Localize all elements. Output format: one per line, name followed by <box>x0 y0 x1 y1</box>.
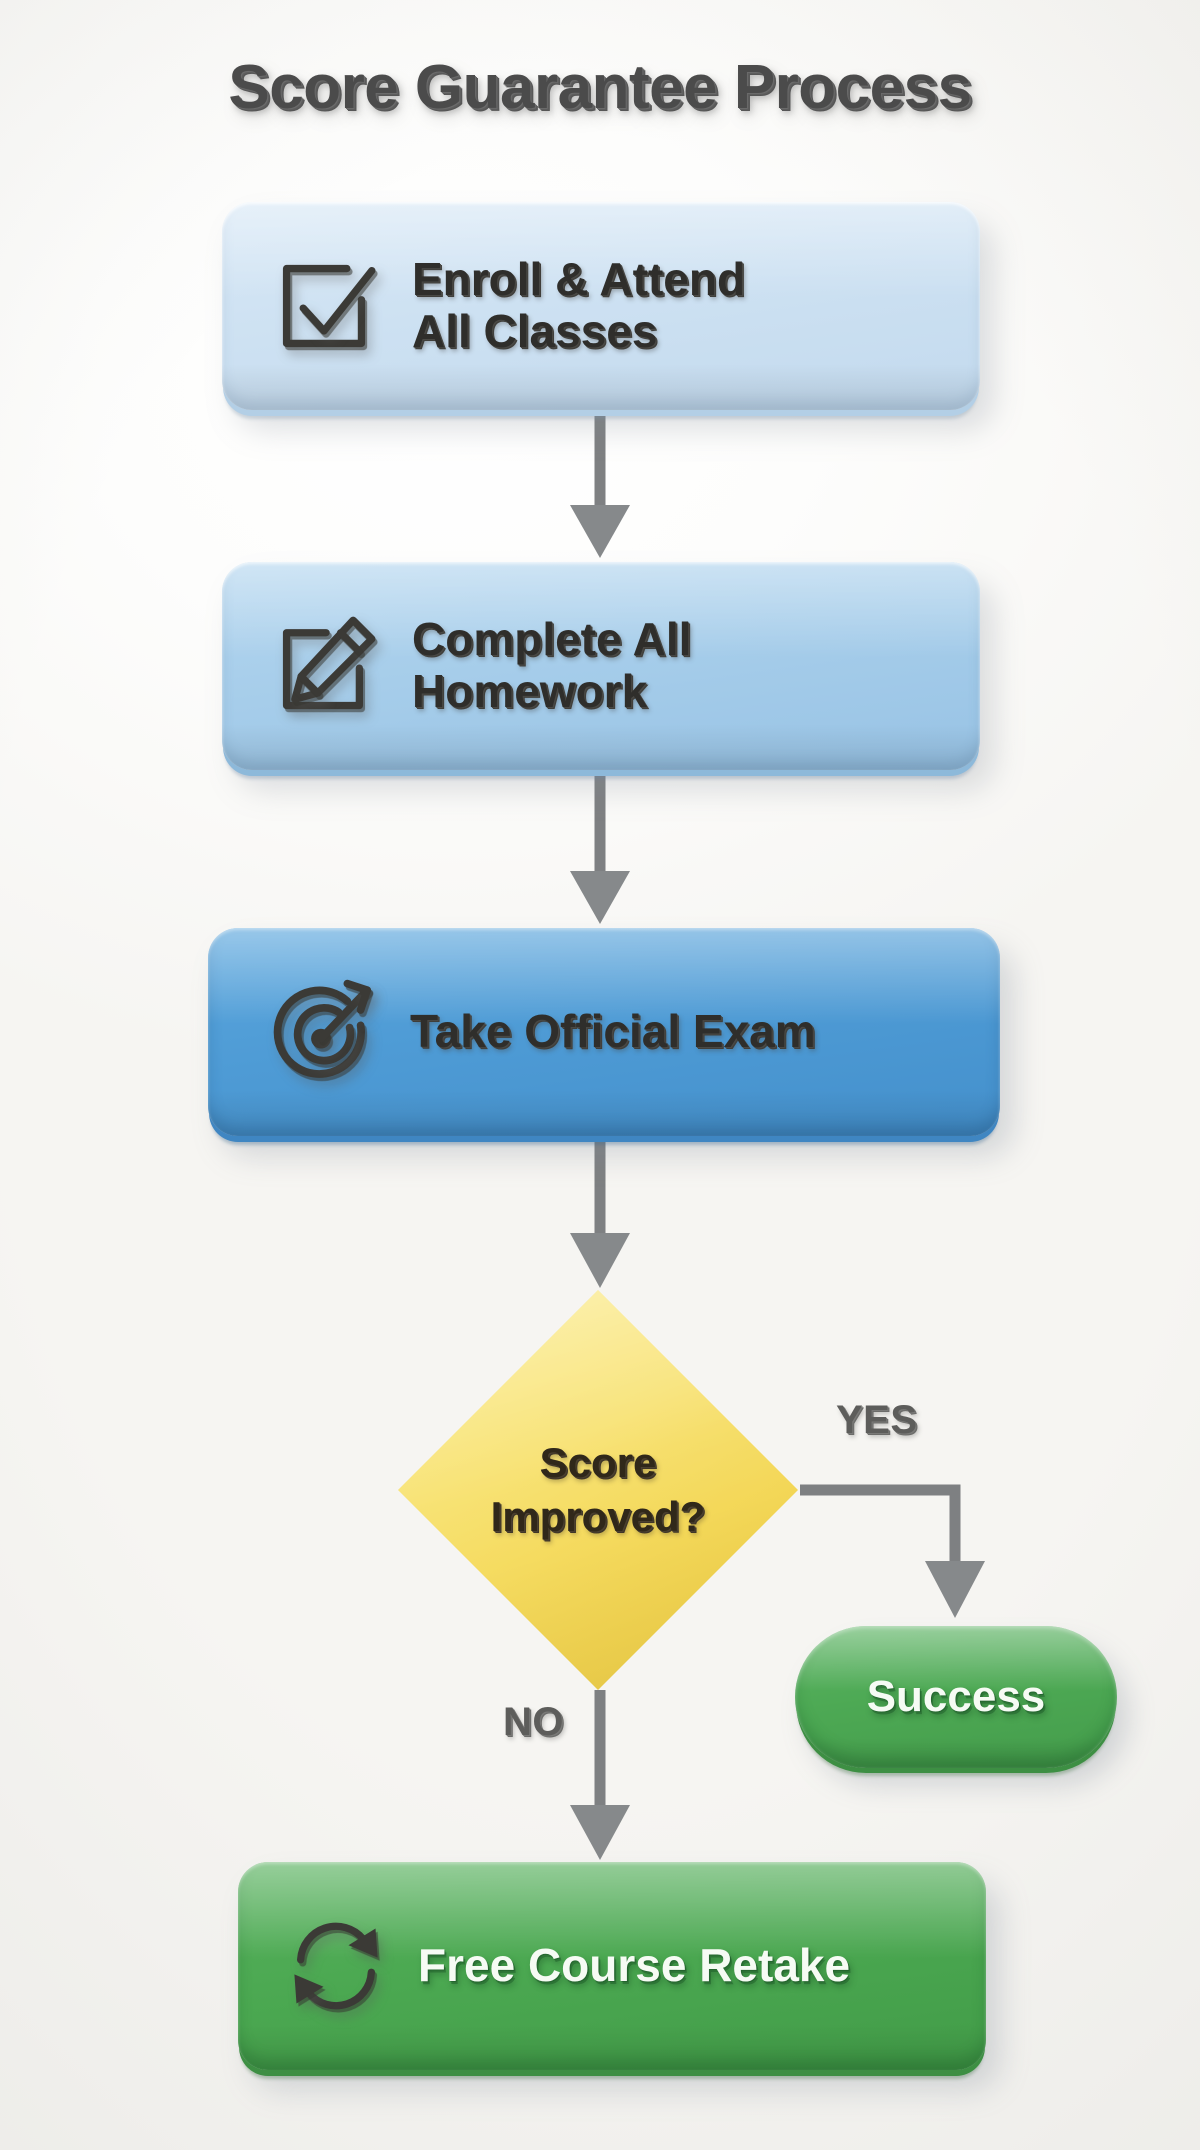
flowchart-canvas: Score Guarantee Process YES NO <box>0 0 1200 2150</box>
node-decision-score-improved[interactable]: Score Improved? <box>398 1290 798 1690</box>
node-exam-label: Take Official Exam <box>410 1006 816 1058</box>
refresh-cycle-icon <box>284 1914 388 2018</box>
target-dart-icon <box>266 977 376 1087</box>
node-success-label: Success <box>867 1672 1046 1721</box>
edge-enroll-to-homework <box>570 416 630 558</box>
node-free-course-retake[interactable]: Free Course Retake <box>238 1862 986 2070</box>
pencil-edit-icon <box>272 614 376 718</box>
node-take-official-exam[interactable]: Take Official Exam <box>208 928 1000 1136</box>
node-homework-label: Complete All Homework <box>412 614 691 717</box>
edge-decision-to-success <box>800 1490 985 1618</box>
node-success[interactable]: Success <box>795 1626 1117 1768</box>
edge-label-yes: YES <box>836 1398 918 1443</box>
edge-homework-to-exam <box>570 776 630 924</box>
node-retake-label: Free Course Retake <box>418 1940 850 1992</box>
node-decision-label: Score Improved? <box>398 1290 798 1690</box>
node-enroll-and-attend[interactable]: Enroll & Attend All Classes <box>222 202 980 410</box>
page-title: Score Guarantee Process <box>0 52 1200 123</box>
edge-decision-to-retake <box>570 1690 630 1860</box>
edge-label-no: NO <box>503 1700 564 1745</box>
checkbox-check-icon <box>272 254 376 358</box>
node-complete-homework[interactable]: Complete All Homework <box>222 562 980 770</box>
edge-exam-to-decision <box>570 1142 630 1288</box>
node-enroll-label: Enroll & Attend All Classes <box>412 254 745 357</box>
